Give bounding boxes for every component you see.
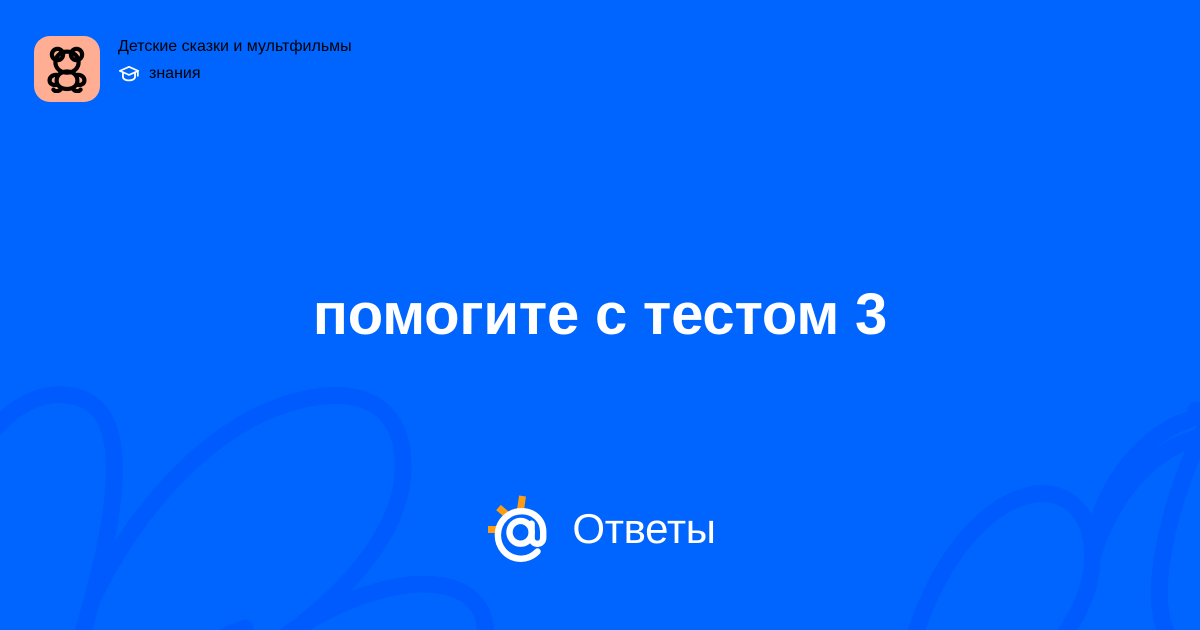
brand-lockup[interactable]: Ответы [0, 490, 1200, 568]
graduation-cap-icon [118, 63, 140, 85]
community-header[interactable]: Детские сказки и мультфильмы знания [34, 36, 352, 102]
avatar[interactable] [34, 36, 100, 102]
service-badge[interactable]: знания [118, 63, 352, 85]
community-name[interactable]: Детские сказки и мультфильмы [118, 38, 352, 56]
brand-name: Ответы [572, 506, 715, 552]
service-label: знания [149, 65, 201, 83]
at-sign-with-rays-icon [484, 490, 556, 568]
social-share-card: Детские сказки и мультфильмы знания помо… [0, 0, 1200, 630]
page-title: помогите с тестом 3 [313, 281, 887, 349]
community-text-block: Детские сказки и мультфильмы знания [118, 36, 352, 85]
teddy-bear-icon [43, 45, 91, 93]
